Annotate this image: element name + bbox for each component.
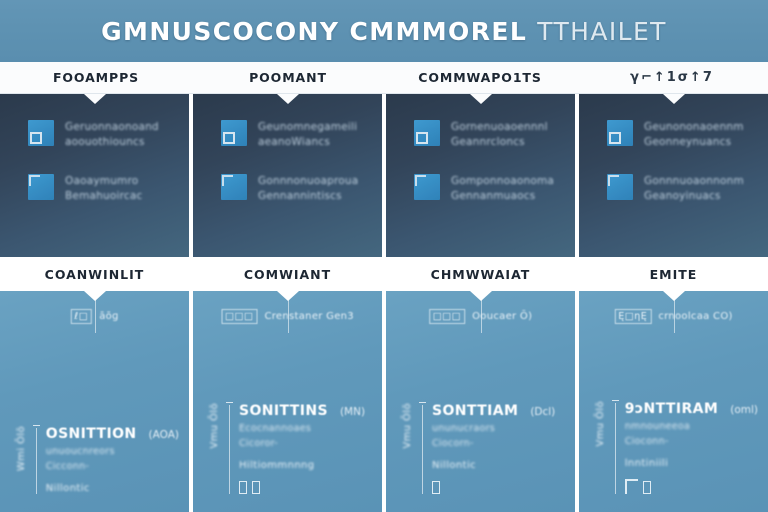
tab-fooampps[interactable]: FOOAMPPS (0, 62, 192, 93)
list-item-text: Geruonnaonoand aoouothiouncs (65, 120, 159, 148)
bottom-panel-3: □□□ Ooucaer Ō) Vmu Ōlō SONTTIAM (Dcl) un… (386, 291, 575, 512)
list-item[interactable]: Oaoaymumro Bemahuoircac (28, 174, 179, 202)
readout-sub2: Cicoror- (239, 438, 365, 449)
tab-commwapo1ts[interactable]: COMMWAPO1TS (384, 62, 576, 93)
app-tile-icon (414, 120, 440, 146)
readout-title: OSNITTION (46, 426, 137, 442)
readout-unit: (AOA) (149, 429, 179, 441)
top-panel-2: Geunomnegameili aeanoWiancs Gonnnonuoapr… (193, 94, 382, 257)
list-item-text: Gomponnoaonoma Gennanmuaocs (451, 174, 554, 202)
list-item[interactable]: Gonnnonuoaproua Gennannintiscs (221, 174, 372, 202)
readout-title: 9ɔNTTIRAM (625, 401, 719, 417)
app-tile-icon (607, 120, 633, 146)
meter-note: Ooucaer Ō) (472, 311, 532, 322)
readout-block: Vmu Ōlō SONITTINS (MN) Ecocnannoaes Cico… (209, 403, 372, 494)
list-item-line1: Gomponnoaonoma (451, 175, 554, 187)
list-item[interactable]: Gomponnoaonoma Gennanmuaocs (414, 174, 565, 202)
readout-foot: Nillontic (432, 460, 555, 471)
status-glyph (625, 479, 758, 494)
list-item-text: Geunomnegameili aeanoWiancs (258, 120, 357, 148)
status-glyph (239, 481, 365, 494)
readout-block: Vmu Ōlō SONTTIAM (Dcl) ununucraors Cioco… (402, 403, 565, 494)
bottom-panel-1: ℓ□ āōɡ Wmi Ōlō OSNITTION (AOA) unuoucnre… (0, 291, 189, 512)
axis-line (422, 405, 423, 494)
glyph-bar-icon (432, 481, 440, 494)
meter-note: Crenstaner Gen3 (264, 311, 354, 322)
meter-chip: □□□ (429, 309, 465, 324)
readout-unit: (MN) (340, 406, 365, 418)
list-item[interactable]: Gornenuoaoennnl Geannrcloncs (414, 120, 565, 148)
readout-sub2: Cioconn- (625, 436, 758, 447)
tab-glyph[interactable]: γ⌐↑1σ↑7 (576, 62, 768, 93)
top-panel-1: Geruonnaonoand aoouothiouncs Oaoaymumro … (0, 94, 189, 257)
app-tile-icon (414, 174, 440, 200)
section-label-chmwwaiat[interactable]: CHMWWAIAT (386, 257, 575, 291)
page-title: GMNUSCOCONY CMMMOREL TTHAILET (101, 17, 667, 46)
axis-line (615, 403, 616, 494)
list-item-text: Oaoaymumro Bemahuoircac (65, 174, 142, 202)
meter-chip: □□□ (221, 309, 257, 324)
readout-sub1: Ecocnannoaes (239, 423, 365, 434)
meter-chip: ℓ□ (70, 309, 92, 324)
list-item[interactable]: Geunomnegameili aeanoWiancs (221, 120, 372, 148)
list-item-line1: Gornenuoaoennnl (451, 121, 548, 133)
status-glyph (432, 481, 555, 494)
list-item[interactable]: Gonnnuoaonnonm Geanoyinuacs (607, 174, 758, 202)
list-item-line2: Gennanmuaocs (451, 190, 554, 202)
caret-icon (663, 94, 685, 104)
list-item-line2: aeanoWiancs (258, 136, 357, 148)
list-item-line1: Geunomnegameili (258, 121, 357, 133)
list-item-line1: Oaoaymumro (65, 175, 142, 187)
list-item-text: Gornenuoaoennnl Geannrcloncs (451, 120, 548, 148)
list-item-line2: Geonneynuancs (644, 136, 744, 148)
readout-foot: lnntiniili (625, 458, 758, 469)
glyph-box-icon (625, 479, 638, 494)
header-banner: GMNUSCOCONY CMMMOREL TTHAILET (0, 0, 768, 62)
app-tile-icon (28, 120, 54, 146)
list-item-line2: Gennannintiscs (258, 190, 358, 202)
section-label-emite[interactable]: EMITE (579, 257, 768, 291)
section-label-coanwinlit[interactable]: COANWINLIT (0, 257, 189, 291)
app-tile-icon (607, 174, 633, 200)
app-tile-icon (221, 120, 247, 146)
list-item[interactable]: Geruonnaonoand aoouothiouncs (28, 120, 179, 148)
top-panel-3: Gornenuoaoennnl Geannrcloncs Gomponnoaon… (386, 94, 575, 257)
list-item-text: Gonnnonuoaproua Gennannintiscs (258, 174, 358, 202)
meter-cluster: □□□ Ooucaer Ō) (429, 309, 533, 324)
meter-chip: Ę□ηĘ (614, 309, 651, 324)
page-title-main: GMNUSCOCONY CMMMOREL (101, 17, 527, 46)
meter-note: āōɡ (99, 311, 119, 322)
top-panel-4: Geunononaoennm Geonneynuancs Gonnnuoaonn… (579, 94, 768, 257)
list-item-line1: Gonnnonuoaproua (258, 175, 358, 187)
meter-cluster: □□□ Crenstaner Gen3 (221, 309, 354, 324)
readout-sub1: unuoucnreors (46, 446, 179, 457)
tab-strip: FOOAMPPS POOMANT COMMWAPO1TS γ⌐↑1σ↑7 (0, 62, 768, 94)
axis-line (229, 405, 230, 494)
list-item-line2: aoouothiouncs (65, 136, 159, 148)
caret-icon (277, 94, 299, 104)
meter-cluster: ℓ□ āōɡ (70, 309, 118, 324)
list-item-line2: Geannrcloncs (451, 136, 548, 148)
bottom-panel-row: ℓ□ āōɡ Wmi Ōlō OSNITTION (AOA) unuoucnre… (0, 291, 768, 512)
bottom-panel-2: □□□ Crenstaner Gen3 Vmu Ōlō SONITTINS (M… (193, 291, 382, 512)
app-tile-icon (28, 174, 54, 200)
readout-side-label: Vmu Ōlō (209, 403, 220, 449)
list-item-line1: Gonnnuoaonnonm (644, 175, 744, 187)
app-window: GMNUSCOCONY CMMMOREL TTHAILET FOOAMPPS P… (0, 0, 768, 512)
list-item-line1: Geunononaoennm (644, 121, 744, 133)
glyph-bar-icon (239, 481, 247, 494)
readout-sub1: nmnouneeoa (625, 421, 758, 432)
meter-note: crnoolcaa CO) (658, 311, 732, 322)
readout-side-label: Vmu Ōlō (402, 403, 413, 449)
readout-sub2: Cicconn- (46, 461, 179, 472)
readout-side-label: Vmu Ōlō (595, 401, 606, 447)
top-panel-row: Geruonnaonoand aoouothiouncs Oaoaymumro … (0, 94, 768, 257)
readout-block: Vmu Ōlō 9ɔNTTIRAM (oml) nmnouneeoa Cioco… (595, 401, 758, 494)
list-item-line2: Bemahuoircac (65, 190, 142, 202)
readout-foot: Hiltiommnnng (239, 460, 365, 471)
section-label-strip: COANWINLIT COMWIANT CHMWWAIAT EMITE (0, 257, 768, 291)
readout-sub1: ununucraors (432, 423, 555, 434)
bottom-panel-4: Ę□ηĘ crnoolcaa CO) Vmu Ōlō 9ɔNTTIRAM (om… (579, 291, 768, 512)
list-item-line2: Geanoyinuacs (644, 190, 744, 202)
readout-block: Wmi Ōlō OSNITTION (AOA) unuoucnreors Cic… (16, 426, 179, 494)
glyph-bar-icon (252, 481, 260, 494)
caret-icon (84, 94, 106, 104)
readout-unit: (oml) (730, 404, 758, 416)
list-item-text: Gonnnuoaonnonm Geanoyinuacs (644, 174, 744, 202)
caret-icon (470, 94, 492, 104)
meter-cluster: Ę□ηĘ crnoolcaa CO) (614, 309, 732, 324)
page-title-secondary: TTHAILET (537, 17, 667, 46)
readout-title: SONITTINS (239, 403, 328, 419)
tab-poomant[interactable]: POOMANT (192, 62, 384, 93)
readout-unit: (Dcl) (530, 406, 555, 418)
list-item-text: Geunononaoennm Geonneynuancs (644, 120, 744, 148)
readout-side-label: Wmi Ōlō (16, 426, 27, 471)
list-item[interactable]: Geunononaoennm Geonneynuancs (607, 120, 758, 148)
section-label-comwiant[interactable]: COMWIANT (193, 257, 382, 291)
list-item-line1: Geruonnaonoand (65, 121, 159, 133)
app-tile-icon (221, 174, 247, 200)
glyph-bar-icon (643, 481, 651, 494)
axis-line (36, 428, 37, 494)
readout-foot: Nillontic (46, 483, 179, 494)
readout-sub2: Ciocorn- (432, 438, 555, 449)
readout-title: SONTTIAM (432, 403, 518, 419)
